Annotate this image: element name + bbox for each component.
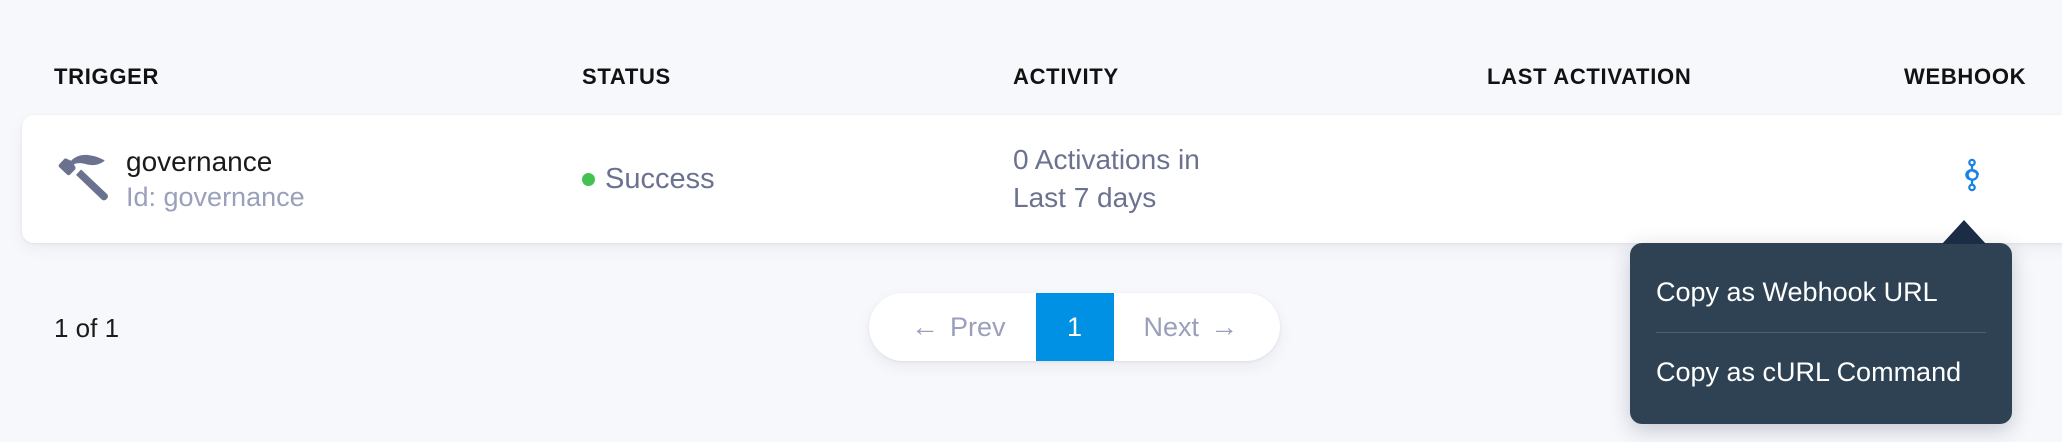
pagination: ← Prev 1 Next → bbox=[869, 293, 1280, 361]
pagination-next-label: Next bbox=[1144, 312, 1200, 343]
table-row[interactable]: governance Id: governance Success 0 Acti… bbox=[22, 115, 2062, 243]
result-count-label: 1 of 1 bbox=[54, 313, 119, 344]
table-header: TRIGGER STATUS ACTIVITY LAST ACTIVATION … bbox=[0, 0, 2062, 112]
hammer-icon bbox=[54, 150, 112, 208]
triggers-table-page: TRIGGER STATUS ACTIVITY LAST ACTIVATION … bbox=[0, 0, 2062, 442]
column-header-status: STATUS bbox=[582, 64, 671, 90]
popover-item-copy-webhook-url[interactable]: Copy as Webhook URL bbox=[1630, 253, 2012, 332]
arrow-left-icon: ← bbox=[911, 313, 939, 341]
popover-arrow-icon bbox=[1942, 220, 1986, 244]
webhook-button[interactable] bbox=[1950, 153, 1994, 197]
status-badge: Success bbox=[605, 163, 715, 196]
popover-item-copy-curl-command[interactable]: Copy as cURL Command bbox=[1630, 333, 2012, 412]
cell-trigger: governance Id: governance bbox=[54, 115, 305, 243]
pagination-prev-label: Prev bbox=[950, 312, 1006, 343]
pagination-prev-button[interactable]: ← Prev bbox=[869, 293, 1036, 361]
column-header-trigger: TRIGGER bbox=[54, 64, 159, 90]
pagination-next-button[interactable]: Next → bbox=[1114, 293, 1281, 361]
webhook-icon bbox=[1955, 158, 1989, 192]
webhook-copy-popover: Copy as Webhook URL Copy as cURL Command bbox=[1630, 243, 2012, 424]
column-header-activity: ACTIVITY bbox=[1013, 64, 1119, 90]
cell-status: Success bbox=[582, 115, 715, 243]
pagination-page-1[interactable]: 1 bbox=[1036, 293, 1114, 361]
activity-period: Last 7 days bbox=[1013, 179, 1200, 217]
trigger-id: Id: governance bbox=[126, 181, 305, 215]
trigger-text-group: governance Id: governance bbox=[126, 144, 305, 215]
activity-count: 0 Activations in bbox=[1013, 141, 1200, 179]
column-header-webhook: WEBHOOK bbox=[1904, 64, 2026, 90]
trigger-name: governance bbox=[126, 144, 305, 179]
arrow-right-icon: → bbox=[1210, 313, 1238, 341]
cell-activity: 0 Activations in Last 7 days bbox=[1013, 115, 1200, 243]
status-dot-icon bbox=[582, 173, 595, 186]
column-header-last-activation: LAST ACTIVATION bbox=[1487, 64, 1691, 90]
